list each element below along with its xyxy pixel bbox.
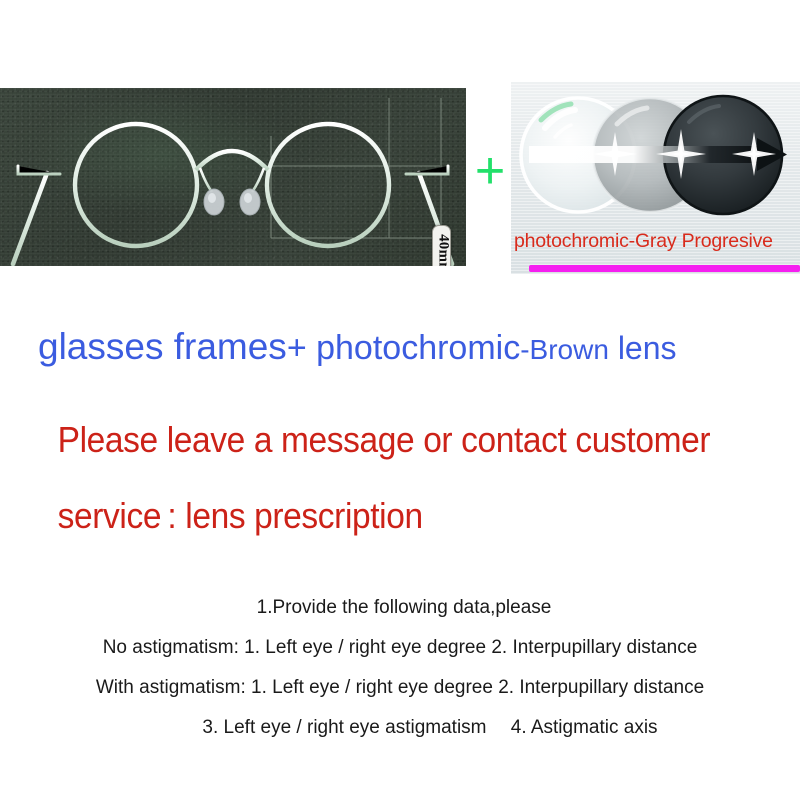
plus-icon: + — [468, 148, 512, 196]
product-headline: glasses frames+ photochromic-Brown lens — [0, 326, 800, 380]
instruction-line-4: 3. Left eye / right eye astigmatism 4. A… — [0, 708, 800, 748]
left-lens-rim — [75, 124, 197, 246]
instruction-line-1: 1.Provide the following data,please — [0, 588, 800, 628]
temple-arms — [13, 173, 452, 264]
prescription-notice: Please leave a message or contact custom… — [0, 402, 744, 554]
right-lens-rim — [267, 124, 389, 246]
transition-beam — [529, 146, 761, 163]
photochromic-lens-stages-illustration — [511, 82, 800, 232]
product-image-row: 40mm 40mm + — [0, 0, 800, 292]
photochromic-lens-panel: photochromic-Gray Progresive — [511, 82, 800, 274]
lens-height-measurement-text: 40mm — [435, 226, 450, 267]
notice-line-1: Please leave a message or contact custom… — [58, 402, 744, 478]
headline-part-lens: lens — [609, 330, 677, 366]
instruction-line-2: No astigmatism: 1. Left eye / right eye … — [0, 628, 800, 668]
headline-part-brown: -Brown — [520, 334, 609, 365]
caption-underline-bar — [529, 265, 800, 272]
measure-guides — [271, 98, 441, 258]
headline-part-frames: glasses frames — [38, 326, 287, 367]
instruction-line-3: With astigmatism: 1. Left eye / right ey… — [0, 668, 800, 708]
nose-pads — [200, 168, 264, 215]
notice-line-2: service : lens prescription — [58, 478, 744, 554]
lens-type-caption: photochromic-Gray Progresive — [511, 230, 800, 253]
prescription-instructions: 1.Provide the following data,please No a… — [0, 588, 800, 748]
lens-height-measurement-label: 40mm — [432, 225, 451, 266]
glasses-frame-photo: 40mm 40mm — [0, 88, 466, 266]
eyeglasses-frame-illustration — [0, 88, 466, 266]
headline-part-photochromic: + photochromic — [287, 329, 520, 367]
